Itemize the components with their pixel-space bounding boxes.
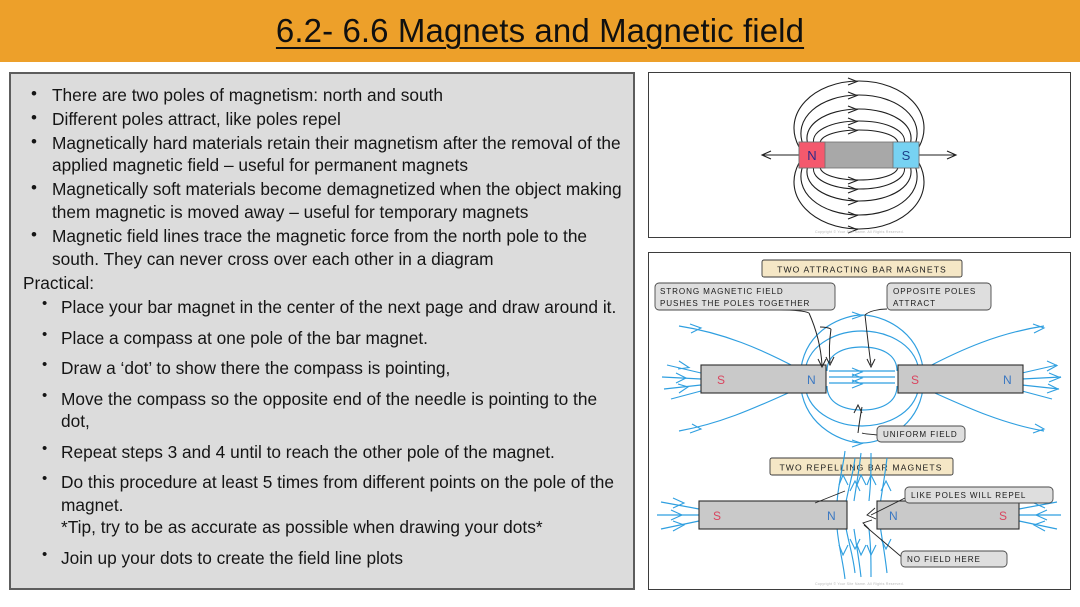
repel-magnet-right: N S bbox=[877, 501, 1019, 529]
callout-line-2: ATTRACT bbox=[893, 299, 936, 308]
list-item: Different poles attract, like poles repe… bbox=[21, 108, 625, 131]
content-panel: There are two poles of magnetism: north … bbox=[9, 72, 635, 590]
list-item: Magnetic field lines trace the magnetic … bbox=[21, 225, 625, 271]
north-pole-label: N bbox=[807, 148, 816, 163]
list-item: There are two poles of magnetism: north … bbox=[21, 84, 625, 107]
copyright-text: Copyright © Your Site Name. All Rights R… bbox=[649, 582, 1070, 586]
south-pole-label: S bbox=[902, 148, 911, 163]
attracting-caption-text: TWO ATTRACTING BAR MAGNETS bbox=[777, 265, 947, 275]
figure-attract-repel-magnets: TWO ATTRACTING BAR MAGNETS bbox=[648, 252, 1071, 590]
list-item: Do this procedure at least 5 times from … bbox=[21, 471, 625, 538]
attract-magnet-right: S N bbox=[898, 365, 1023, 393]
tip-note: *Tip, try to be as accurate as possible … bbox=[61, 516, 625, 538]
repel-left-south-label: S bbox=[713, 509, 721, 523]
attracting-caption: TWO ATTRACTING BAR MAGNETS bbox=[762, 260, 962, 277]
step-text: Do this procedure at least 5 times from … bbox=[61, 472, 614, 514]
page-title: 6.2- 6.6 Magnets and Magnetic field bbox=[276, 12, 804, 50]
repel-magnet-left: S N bbox=[699, 501, 847, 529]
callout-strong-field: STRONG MAGNETIC FIELD PUSHES THE POLES T… bbox=[655, 283, 835, 310]
callout-uniform-field: UNIFORM FIELD bbox=[877, 426, 965, 442]
magnet-right-north-label: N bbox=[1003, 373, 1012, 387]
list-item: Place a compass at one pole of the bar m… bbox=[21, 327, 625, 349]
callout-line-1: NO FIELD HERE bbox=[907, 555, 981, 564]
slide: 6.2- 6.6 Magnets and Magnetic field Ther… bbox=[0, 0, 1080, 607]
repel-right-south-label: S bbox=[999, 509, 1007, 523]
callout-line-1: STRONG MAGNETIC FIELD bbox=[660, 287, 784, 296]
bar-magnet: N S bbox=[799, 142, 919, 168]
magnet-left-south-label: S bbox=[717, 373, 725, 387]
repelling-caption: TWO REPELLING BAR MAGNETS bbox=[770, 458, 953, 475]
list-item: Join up your dots to create the field li… bbox=[21, 547, 625, 569]
callout-line-1: OPPOSITE POLES bbox=[893, 287, 976, 296]
list-item: Repeat steps 3 and 4 until to reach the … bbox=[21, 441, 625, 463]
callout-like-poles-repel: LIKE POLES WILL REPEL bbox=[905, 487, 1053, 503]
practical-heading: Practical: bbox=[23, 272, 625, 295]
callout-line-1: UNIFORM FIELD bbox=[883, 430, 958, 439]
magnet-right-south-label: S bbox=[911, 373, 919, 387]
list-item: Place your bar magnet in the center of t… bbox=[21, 296, 625, 318]
callout-line-2: PUSHES THE POLES TOGETHER bbox=[660, 299, 810, 308]
list-item: Move the compass so the opposite end of … bbox=[21, 388, 625, 433]
callout-opposite-poles: OPPOSITE POLES ATTRACT bbox=[887, 283, 991, 310]
key-points-list: There are two poles of magnetism: north … bbox=[21, 84, 625, 271]
callout-line-1: LIKE POLES WILL REPEL bbox=[911, 491, 1026, 500]
callout-no-field-here: NO FIELD HERE bbox=[901, 551, 1007, 567]
copyright-text: Copyright © Your Site Name. All Rights R… bbox=[649, 230, 1070, 234]
list-item: Magnetically soft materials become demag… bbox=[21, 178, 625, 224]
practical-steps-list: Place your bar magnet in the center of t… bbox=[21, 296, 625, 569]
list-item: Magnetically hard materials retain their… bbox=[21, 132, 625, 178]
figure-single-bar-magnet: N S Copyright © Your Site Name. All Righ… bbox=[648, 72, 1071, 238]
repel-right-north-label: N bbox=[889, 509, 898, 523]
single-magnet-diagram: N S bbox=[649, 73, 1069, 236]
attract-magnet-left: S N bbox=[701, 365, 826, 393]
repel-left-north-label: N bbox=[827, 509, 836, 523]
list-item: Draw a ‘dot’ to show there the compass i… bbox=[21, 357, 625, 379]
repelling-caption-text: TWO REPELLING BAR MAGNETS bbox=[779, 463, 942, 473]
magnet-left-north-label: N bbox=[807, 373, 816, 387]
attract-repel-diagram: TWO ATTRACTING BAR MAGNETS bbox=[649, 253, 1069, 588]
slide-header: 6.2- 6.6 Magnets and Magnetic field bbox=[0, 0, 1080, 62]
